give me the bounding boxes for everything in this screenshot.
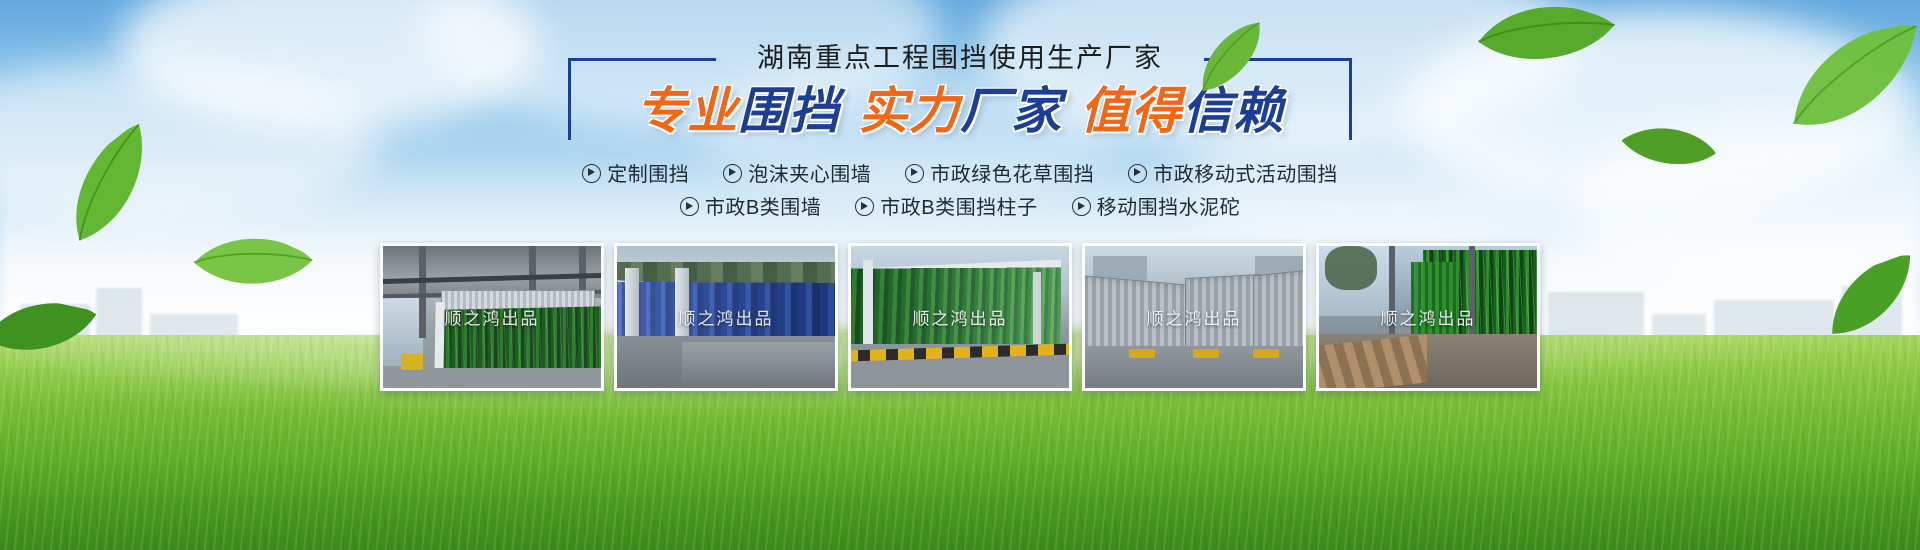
- promo-banner: 湖南重点工程围挡使用生产厂家 专业围挡实力厂家值得信赖 定制围挡泡沫夹心围墙市政…: [0, 0, 1920, 550]
- feature-row-1: 定制围挡泡沫夹心围墙市政绿色花草围挡市政移动式活动围挡: [0, 160, 1920, 190]
- feature-item[interactable]: 市政B类围墙: [680, 193, 821, 223]
- title-segment-4: 厂家: [960, 82, 1062, 140]
- feature-label: 市政移动式活动围挡: [1153, 164, 1338, 186]
- play-circle-icon: [723, 164, 742, 183]
- play-circle-icon: [680, 197, 699, 216]
- feature-item[interactable]: 市政移动式活动围挡: [1128, 160, 1338, 190]
- play-circle-icon: [905, 164, 924, 183]
- feature-label: 市政绿色花草围挡: [930, 164, 1094, 186]
- play-circle-icon: [855, 197, 874, 216]
- feature-row-2: 市政B类围墙市政B类围挡柱子移动围挡水泥砣: [0, 193, 1920, 223]
- feature-item[interactable]: 市政绿色花草围挡: [905, 160, 1094, 190]
- feature-item[interactable]: 移动围挡水泥砣: [1072, 193, 1241, 223]
- feature-label: 移动围挡水泥砣: [1097, 197, 1241, 219]
- photo-watermark: 顺之鸿出品: [1319, 305, 1537, 330]
- title-segment-6: 信赖: [1182, 82, 1284, 140]
- feature-item[interactable]: 泡沫夹心围墙: [723, 160, 871, 190]
- title-segment-1: 专业: [636, 82, 738, 140]
- product-photo-card-3[interactable]: 顺之鸿出品: [848, 243, 1072, 391]
- product-photo-card-2[interactable]: 顺之鸿出品: [614, 243, 838, 391]
- feature-item[interactable]: 定制围挡: [582, 160, 689, 190]
- play-circle-icon: [582, 164, 601, 183]
- product-photo-card-1[interactable]: 顺之鸿出品: [380, 243, 604, 391]
- play-circle-icon: [1128, 164, 1147, 183]
- feature-label: 市政B类围墙: [705, 197, 821, 219]
- banner-subtitle: 湖南重点工程围挡使用生产厂家: [568, 36, 1352, 80]
- photo-watermark: 顺之鸿出品: [383, 305, 601, 330]
- product-photo-card-5[interactable]: 顺之鸿出品: [1316, 243, 1540, 391]
- photo-watermark: 顺之鸿出品: [1085, 305, 1303, 330]
- feature-label: 泡沫夹心围墙: [748, 164, 871, 186]
- play-circle-icon: [1072, 197, 1091, 216]
- feature-list: 定制围挡泡沫夹心围墙市政绿色花草围挡市政移动式活动围挡 市政B类围墙市政B类围挡…: [0, 160, 1920, 223]
- feature-label: 定制围挡: [607, 164, 689, 186]
- title-bracket-frame: 湖南重点工程围挡使用生产厂家 专业围挡实力厂家值得信赖: [568, 44, 1352, 140]
- title-segment-2: 围挡: [738, 82, 840, 140]
- feature-item[interactable]: 市政B类围挡柱子: [855, 193, 1037, 223]
- product-photo-card-4[interactable]: 顺之鸿出品: [1082, 243, 1306, 391]
- product-photo-strip: 顺之鸿出品 顺之鸿出品 顺之鸿出品: [0, 243, 1920, 391]
- title-segment-3: 实力: [858, 82, 960, 140]
- headline-block: 湖南重点工程围挡使用生产厂家 专业围挡实力厂家值得信赖: [0, 44, 1920, 140]
- photo-watermark: 顺之鸿出品: [851, 305, 1069, 330]
- title-segment-5: 值得: [1080, 82, 1182, 140]
- banner-main-title: 专业围挡实力厂家值得信赖: [568, 82, 1352, 140]
- feature-label: 市政B类围挡柱子: [880, 197, 1037, 219]
- photo-watermark: 顺之鸿出品: [617, 305, 835, 330]
